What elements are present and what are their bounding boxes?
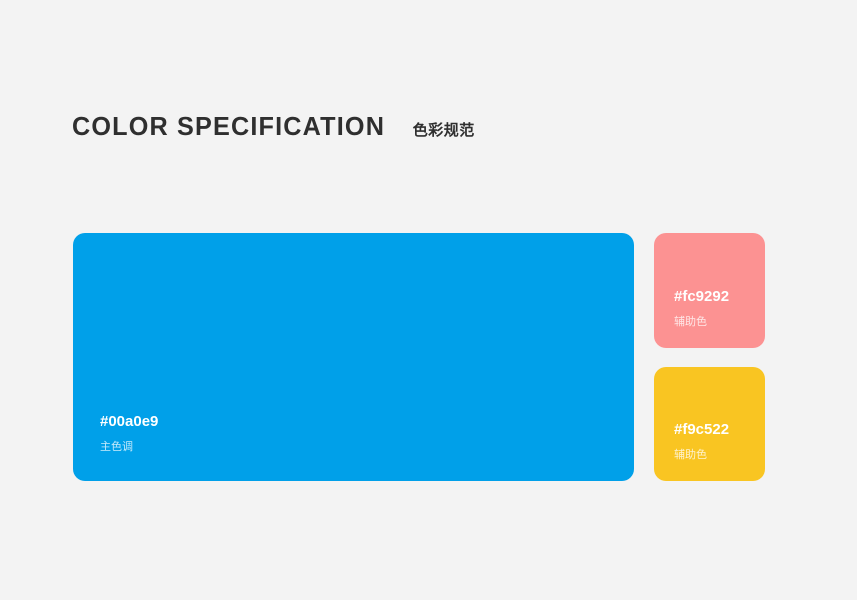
color-swatch-secondary-2[interactable]: #f9c522 辅助色 [654, 367, 765, 481]
swatch-role-label: 辅助色 [674, 450, 729, 461]
swatch-hex-value: #f9c522 [674, 422, 729, 437]
page-subtitle: 色彩规范 [413, 123, 475, 138]
swatch-label-group: #f9c522 辅助色 [674, 422, 729, 461]
page-header: COLOR SPECIFICATION 色彩规范 [72, 113, 475, 139]
swatch-hex-value: #fc9292 [674, 289, 729, 304]
swatch-label-group: #fc9292 辅助色 [674, 289, 729, 328]
page-title: COLOR SPECIFICATION [72, 113, 385, 139]
color-swatch-primary[interactable]: #00a0e9 主色调 [73, 233, 634, 481]
color-swatch-secondary-1[interactable]: #fc9292 辅助色 [654, 233, 765, 348]
swatch-role-label: 辅助色 [674, 317, 729, 328]
swatch-role-label: 主色调 [100, 442, 158, 453]
color-specification-page: COLOR SPECIFICATION 色彩规范 #00a0e9 主色调 #fc… [0, 0, 857, 600]
swatch-hex-value: #00a0e9 [100, 414, 158, 429]
swatch-label-group: #00a0e9 主色调 [100, 414, 158, 453]
